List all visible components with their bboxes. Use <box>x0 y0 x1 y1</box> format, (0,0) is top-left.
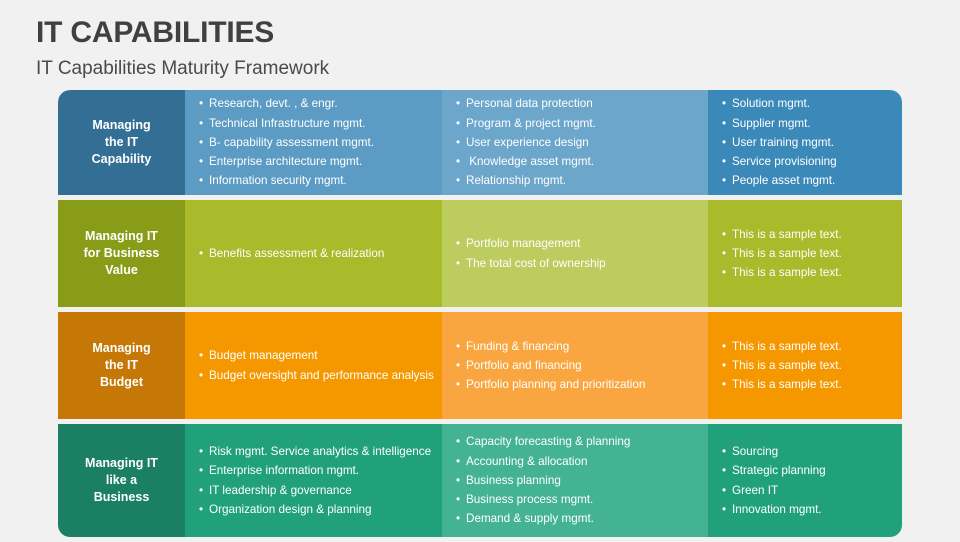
bullet-item: Portfolio management <box>456 234 702 253</box>
row-label-text: Managingthe ITCapability <box>92 117 152 168</box>
matrix-cell-managing-the-it-budget-col3: This is a sample text.This is a sample t… <box>708 312 902 419</box>
bullet-item: Information security mgmt. <box>199 171 436 190</box>
bullet-item: Portfolio and financing <box>456 356 702 375</box>
bullet-item: This is a sample text. <box>722 356 896 375</box>
matrix-cell-managing-it-like-a-business-col3: SourcingStrategic planningGreen ITInnova… <box>708 424 902 537</box>
bullet-item: Solution mgmt. <box>722 94 896 113</box>
bullet-list: This is a sample text.This is a sample t… <box>708 337 902 395</box>
bullet-item: This is a sample text. <box>722 244 896 263</box>
bullet-list: Capacity forecasting & planningAccountin… <box>442 432 708 528</box>
bullet-item: Enterprise architecture mgmt. <box>199 152 436 171</box>
bullet-item: B- capability assessment mgmt. <box>199 133 436 152</box>
bullet-list: Solution mgmt.Supplier mgmt.User trainin… <box>708 94 902 190</box>
matrix-row-managing-the-it-budget: Managingthe ITBudgetBudget managementBud… <box>58 312 902 419</box>
bullet-item: This is a sample text. <box>722 337 896 356</box>
row-label-text: Managingthe ITBudget <box>92 340 150 391</box>
row-label-managing-it-like-a-business: Managing ITlike aBusiness <box>58 424 185 537</box>
slide-header: IT CAPABILITIES IT Capabilities Maturity… <box>36 14 916 82</box>
bullet-item: Strategic planning <box>722 461 896 480</box>
row-label-text: Managing ITfor BusinessValue <box>84 228 160 279</box>
bullet-item: Technical Infrastructure mgmt. <box>199 114 436 133</box>
bullet-item: Enterprise information mgmt. <box>199 461 436 480</box>
bullet-item: Innovation mgmt. <box>722 500 896 519</box>
bullet-item: Supplier mgmt. <box>722 114 896 133</box>
matrix-cell-managing-the-it-capability-col1: Research, devt. , & engr.Technical Infra… <box>185 90 442 195</box>
matrix-row-managing-it-like-a-business: Managing ITlike aBusinessRisk mgmt. Serv… <box>58 424 902 537</box>
bullet-item: Service provisioning <box>722 152 896 171</box>
bullet-item: Demand & supply mgmt. <box>456 509 702 528</box>
row-label-managing-it-for-business-value: Managing ITfor BusinessValue <box>58 200 185 307</box>
row-label-managing-the-it-budget: Managingthe ITBudget <box>58 312 185 419</box>
bullet-item: Funding & financing <box>456 337 702 356</box>
bullet-item: User training mgmt. <box>722 133 896 152</box>
bullet-item: Business planning <box>456 471 702 490</box>
bullet-item: Sourcing <box>722 442 896 461</box>
bullet-item: Organization design & planning <box>199 500 436 519</box>
matrix-cell-managing-it-for-business-value-col3: This is a sample text.This is a sample t… <box>708 200 902 307</box>
bullet-item: Green IT <box>722 481 896 500</box>
row-label-managing-the-it-capability: Managingthe ITCapability <box>58 90 185 195</box>
bullet-item: Program & project mgmt. <box>456 114 702 133</box>
bullet-item: IT leadership & governance <box>199 481 436 500</box>
page-subtitle: IT Capabilities Maturity Framework <box>36 56 916 82</box>
bullet-item: Risk mgmt. Service analytics & intellige… <box>199 442 436 461</box>
bullet-item: People asset mgmt. <box>722 171 896 190</box>
matrix-row-managing-it-for-business-value: Managing ITfor BusinessValueBenefits ass… <box>58 200 902 307</box>
bullet-item: Budget management <box>199 346 436 365</box>
page-title: IT CAPABILITIES <box>36 14 916 52</box>
bullet-item: Business process mgmt. <box>456 490 702 509</box>
matrix-cell-managing-the-it-budget-col2: Funding & financingPortfolio and financi… <box>442 312 708 419</box>
capability-matrix: Managingthe ITCapabilityResearch, devt. … <box>58 90 902 542</box>
matrix-cell-managing-the-it-budget-col1: Budget managementBudget oversight and pe… <box>185 312 442 419</box>
bullet-item: Personal data protection <box>456 94 702 113</box>
bullet-item: Knowledge asset mgmt. <box>456 152 702 171</box>
matrix-cell-managing-the-it-capability-col2: Personal data protectionProgram & projec… <box>442 90 708 195</box>
bullet-item: Research, devt. , & engr. <box>199 94 436 113</box>
bullet-item: Benefits assessment & realization <box>199 244 436 263</box>
bullet-list: This is a sample text.This is a sample t… <box>708 225 902 283</box>
matrix-cell-managing-it-for-business-value-col1: Benefits assessment & realization <box>185 200 442 307</box>
bullet-item: User experience design <box>456 133 702 152</box>
bullet-item: Budget oversight and performance analysi… <box>199 366 436 385</box>
bullet-item: This is a sample text. <box>722 263 896 282</box>
bullet-item: This is a sample text. <box>722 225 896 244</box>
matrix-cell-managing-it-like-a-business-col2: Capacity forecasting & planningAccountin… <box>442 424 708 537</box>
bullet-list: Portfolio managementThe total cost of ow… <box>442 234 708 273</box>
bullet-list: Risk mgmt. Service analytics & intellige… <box>185 442 442 519</box>
bullet-list: SourcingStrategic planningGreen ITInnova… <box>708 442 902 519</box>
matrix-cell-managing-it-for-business-value-col2: Portfolio managementThe total cost of ow… <box>442 200 708 307</box>
matrix-cell-managing-the-it-capability-col3: Solution mgmt.Supplier mgmt.User trainin… <box>708 90 902 195</box>
matrix-cell-managing-it-like-a-business-col1: Risk mgmt. Service analytics & intellige… <box>185 424 442 537</box>
row-label-text: Managing ITlike aBusiness <box>85 455 158 506</box>
bullet-item: Relationship mgmt. <box>456 171 702 190</box>
bullet-list: Budget managementBudget oversight and pe… <box>185 346 442 385</box>
bullet-item: This is a sample text. <box>722 375 896 394</box>
bullet-list: Funding & financingPortfolio and financi… <box>442 337 708 395</box>
bullet-list: Research, devt. , & engr.Technical Infra… <box>185 94 442 190</box>
bullet-item: Accounting & allocation <box>456 452 702 471</box>
matrix-row-managing-the-it-capability: Managingthe ITCapabilityResearch, devt. … <box>58 90 902 195</box>
bullet-item: Capacity forecasting & planning <box>456 432 702 451</box>
bullet-item: The total cost of ownership <box>456 254 702 273</box>
bullet-list: Personal data protectionProgram & projec… <box>442 94 708 190</box>
bullet-item: Portfolio planning and prioritization <box>456 375 702 394</box>
bullet-list: Benefits assessment & realization <box>185 244 442 263</box>
